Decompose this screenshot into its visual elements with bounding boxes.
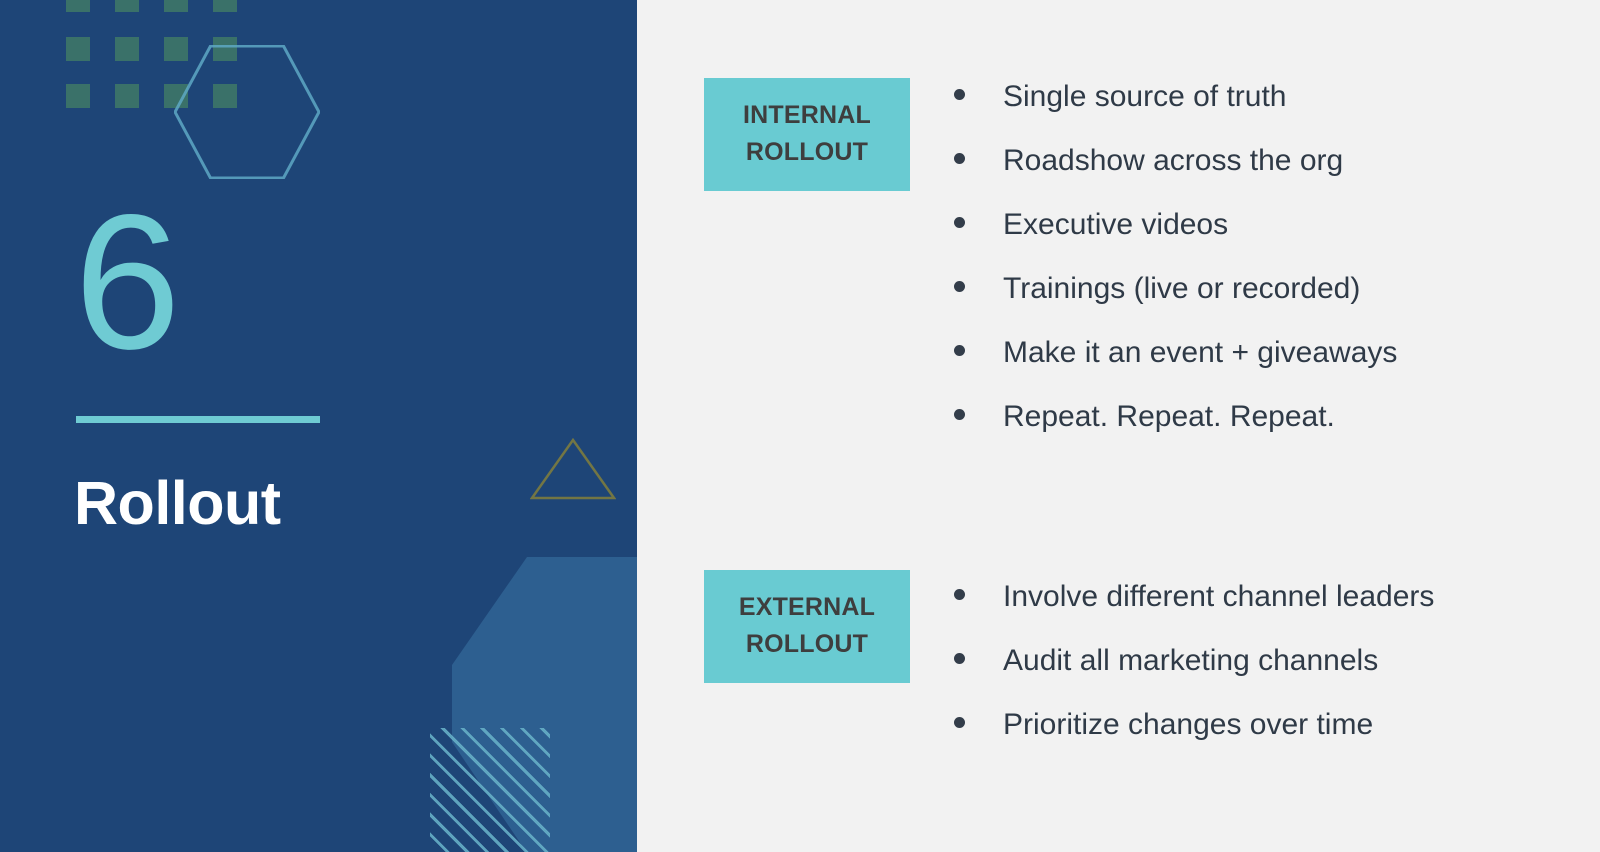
left-panel: 6 Rollout (0, 0, 637, 852)
list-item: Trainings (live or recorded) (954, 272, 1397, 336)
bullet-dot-icon (954, 281, 965, 292)
bullet-dot-icon (954, 217, 965, 228)
bullet-dot-icon (954, 589, 965, 600)
list-item: Audit all marketing channels (954, 644, 1434, 708)
list-item-label: Roadshow across the org (1003, 144, 1343, 178)
list-item: Repeat. Repeat. Repeat. (954, 400, 1397, 464)
list-item: Single source of truth (954, 80, 1397, 144)
bullet-dot-icon (954, 89, 965, 100)
badge-line: EXTERNAL (712, 589, 902, 626)
bullet-dot-icon (954, 153, 965, 164)
internal-rollout-bullet-list: Single source of truth Roadshow across t… (954, 80, 1397, 464)
list-item: Involve different channel leaders (954, 580, 1434, 644)
diagonal-stripes-pattern (430, 728, 550, 852)
list-item: Make it an event + giveaways (954, 336, 1397, 400)
internal-rollout-badge: INTERNAL ROLLOUT (704, 78, 910, 191)
bullet-dot-icon (954, 653, 965, 664)
triangle-outline-shape (530, 438, 616, 500)
list-item: Executive videos (954, 208, 1397, 272)
list-item-label: Trainings (live or recorded) (1003, 272, 1360, 306)
list-item: Roadshow across the org (954, 144, 1397, 208)
list-item-label: Executive videos (1003, 208, 1228, 242)
list-item: Prioritize changes over time (954, 708, 1434, 772)
hexagon-outline-shape (174, 45, 320, 179)
horizontal-rule (76, 416, 320, 423)
page-title: Rollout (74, 467, 281, 539)
list-item-label: Involve different channel leaders (1003, 580, 1434, 614)
external-rollout-group: EXTERNAL ROLLOUT Involve different chann… (704, 570, 1434, 772)
badge-line: ROLLOUT (712, 626, 902, 663)
internal-rollout-group: INTERNAL ROLLOUT Single source of truth … (704, 78, 1397, 464)
list-item-label: Make it an event + giveaways (1003, 336, 1397, 370)
step-number: 6 (74, 186, 179, 378)
bullet-dot-icon (954, 409, 965, 420)
bullet-dot-icon (954, 717, 965, 728)
badge-line: ROLLOUT (712, 134, 902, 171)
external-rollout-badge: EXTERNAL ROLLOUT (704, 570, 910, 683)
badge-line: INTERNAL (712, 97, 902, 134)
list-item-label: Repeat. Repeat. Repeat. (1003, 400, 1335, 434)
external-rollout-bullet-list: Involve different channel leaders Audit … (954, 580, 1434, 772)
right-panel: INTERNAL ROLLOUT Single source of truth … (637, 0, 1600, 852)
slide-canvas: 6 Rollout INTERNAL ROLLOUT Single source… (0, 0, 1600, 852)
list-item-label: Audit all marketing channels (1003, 644, 1378, 678)
list-item-label: Prioritize changes over time (1003, 708, 1373, 742)
bullet-dot-icon (954, 345, 965, 356)
list-item-label: Single source of truth (1003, 80, 1287, 114)
